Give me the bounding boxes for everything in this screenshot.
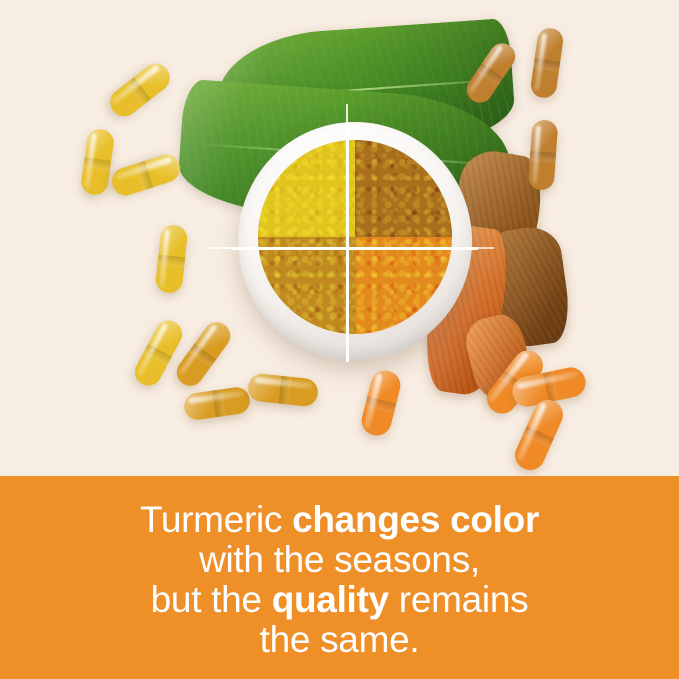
tagline-line: Turmeric changes color [140,500,539,540]
infographic-canvas: Turmeric changes colorwith the seasons,b… [0,0,679,679]
capsule-highlight [136,322,168,376]
tagline-plain: the same. [260,619,420,660]
turmeric-capsule [182,386,251,422]
powder-grain [355,237,452,334]
bowl-powder-area [258,140,452,334]
powder-grain [258,237,355,334]
tagline-line: but the quality remains [140,580,539,620]
turmeric-capsule [105,58,176,122]
capsule-highlight [178,324,218,376]
turmeric-capsule [80,127,116,196]
tagline-line: with the seasons, [140,540,539,580]
tagline-plain: remains [389,579,528,620]
turmeric-capsule [247,372,320,407]
powder-quadrant-top-right [355,140,452,237]
turmeric-capsule [155,224,189,294]
tagline-emphasis: changes color [292,499,539,540]
turmeric-product-photo [0,0,679,476]
tagline-emphasis: quality [272,579,389,620]
powder-quadrant-top-left [258,140,355,237]
tagline-banner: Turmeric changes colorwith the seasons,b… [0,476,679,679]
turmeric-capsule [510,395,568,475]
tagline-plain: but the [151,579,272,620]
tagline-plain: with the seasons, [199,539,480,580]
capsule-highlight [516,402,547,461]
tagline-plain: Turmeric [140,499,292,540]
white-ceramic-bowl [238,122,472,360]
capsule-highlight [111,64,159,104]
powder-grain [355,140,452,237]
powder-grain [258,140,355,237]
divider-line-horizontal [232,247,478,250]
turmeric-capsule [358,367,403,438]
powder-quadrant-bottom-left [258,237,355,334]
powder-quadrant-bottom-right [355,237,452,334]
turmeric-capsule [528,119,559,191]
turmeric-capsule [529,27,564,100]
turmeric-capsule [108,151,183,199]
tagline-line: the same. [140,620,539,660]
tagline-text: Turmeric changes colorwith the seasons,b… [140,500,539,660]
divider-line-vertical [346,122,349,362]
